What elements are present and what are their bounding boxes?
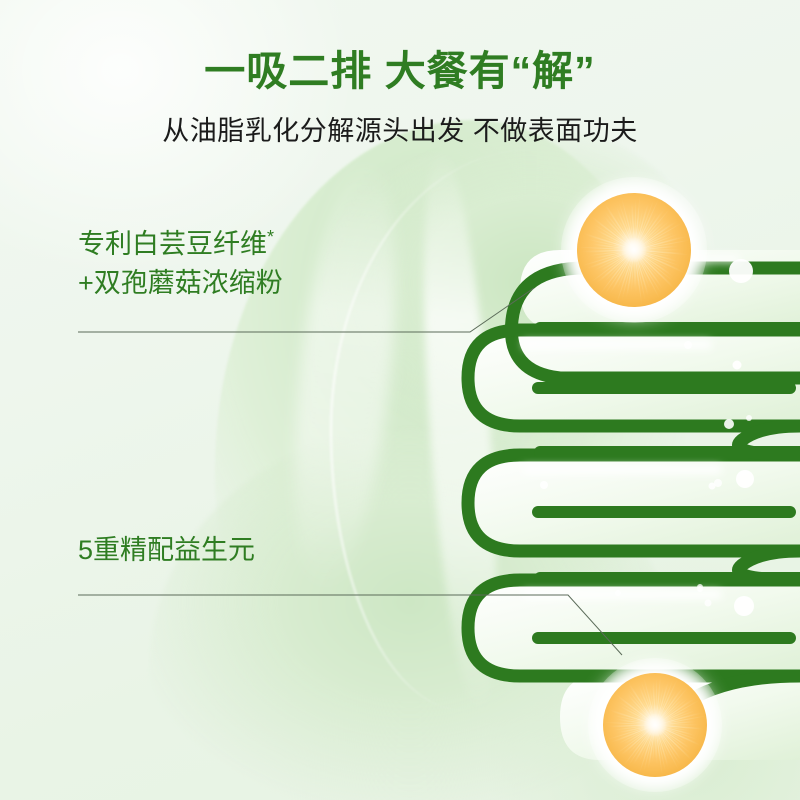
footnote-asterisk: * [267, 227, 274, 247]
annotation-ingredient-fiber: 专利白芸豆纤维* +双孢蘑菇浓缩粉 [78, 224, 283, 303]
poster-header: 一吸二排 大餐有“解” 从油脂乳化分解源头出发 不做表面功夫 [0, 0, 800, 148]
page-title: 一吸二排 大餐有“解” [0, 0, 800, 95]
annotation-ingredient-fiber-line2: +双孢蘑菇浓缩粉 [78, 264, 283, 303]
product-poster: 一吸二排 大餐有“解” 从油脂乳化分解源头出发 不做表面功夫 专利白芸豆纤维* … [0, 0, 800, 800]
annotation-ingredient-fiber-line1: 专利白芸豆纤维* [78, 224, 283, 264]
annotation-ingredient-fiber-text: 专利白芸豆纤维 [78, 229, 267, 259]
page-subtitle: 从油脂乳化分解源头出发 不做表面功夫 [0, 95, 800, 148]
annotation-prebiotics-line1: 5重精配益生元 [78, 531, 255, 570]
leader-line-prebiotics [78, 595, 622, 655]
annotation-prebiotics: 5重精配益生元 [78, 531, 255, 570]
